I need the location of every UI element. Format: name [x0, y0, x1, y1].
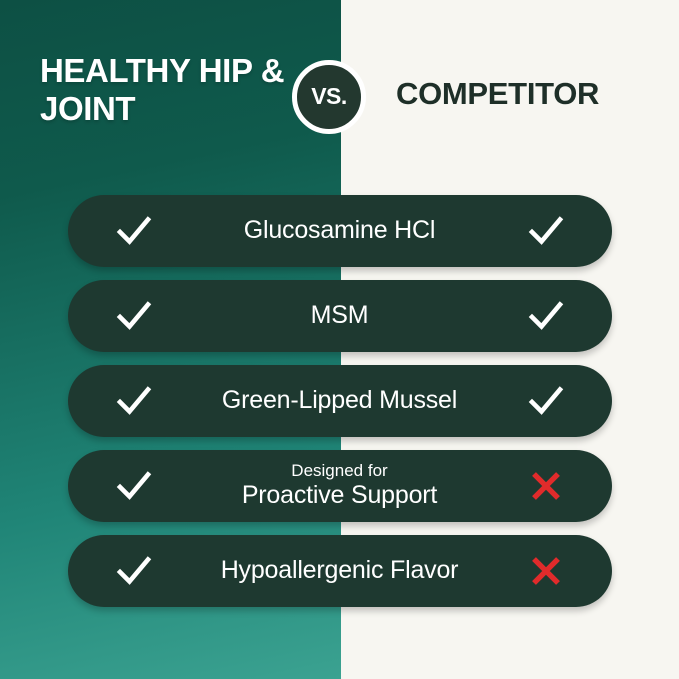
comparison-row: MSM [68, 280, 612, 352]
feature-label: MSM [156, 302, 524, 330]
check-icon [524, 209, 568, 253]
comparison-row: Hypoallergenic Flavor [68, 535, 612, 607]
feature-label: Glucosamine HCl [156, 217, 524, 245]
feature-label-eyebrow: Designed for [164, 462, 516, 481]
vs-badge-label: VS. [311, 85, 347, 110]
brand-title: HEALTHY HIP & JOINT [40, 52, 290, 129]
vs-badge: VS. [292, 60, 366, 134]
check-icon [112, 549, 156, 593]
header: HEALTHY HIP & JOINT VS. COMPETITOR [0, 0, 679, 185]
comparison-rows: Glucosamine HCl MSM Green-Lipped Mussel [0, 195, 679, 607]
feature-label: Designed for Proactive Support [156, 462, 524, 509]
check-icon [524, 294, 568, 338]
check-icon [112, 379, 156, 423]
check-icon [112, 294, 156, 338]
feature-label: Hypoallergenic Flavor [156, 557, 524, 585]
comparison-row: Green-Lipped Mussel [68, 365, 612, 437]
feature-label-main: Proactive Support [164, 482, 516, 510]
check-icon [524, 379, 568, 423]
feature-label: Green-Lipped Mussel [156, 387, 524, 415]
check-icon [112, 209, 156, 253]
check-icon [112, 464, 156, 508]
comparison-row: Glucosamine HCl [68, 195, 612, 267]
competitor-title: COMPETITOR [396, 76, 599, 112]
cross-icon [524, 549, 568, 593]
cross-icon [524, 464, 568, 508]
comparison-row: Designed for Proactive Support [68, 450, 612, 522]
comparison-infographic: HEALTHY HIP & JOINT VS. COMPETITOR Gluco… [0, 0, 679, 679]
